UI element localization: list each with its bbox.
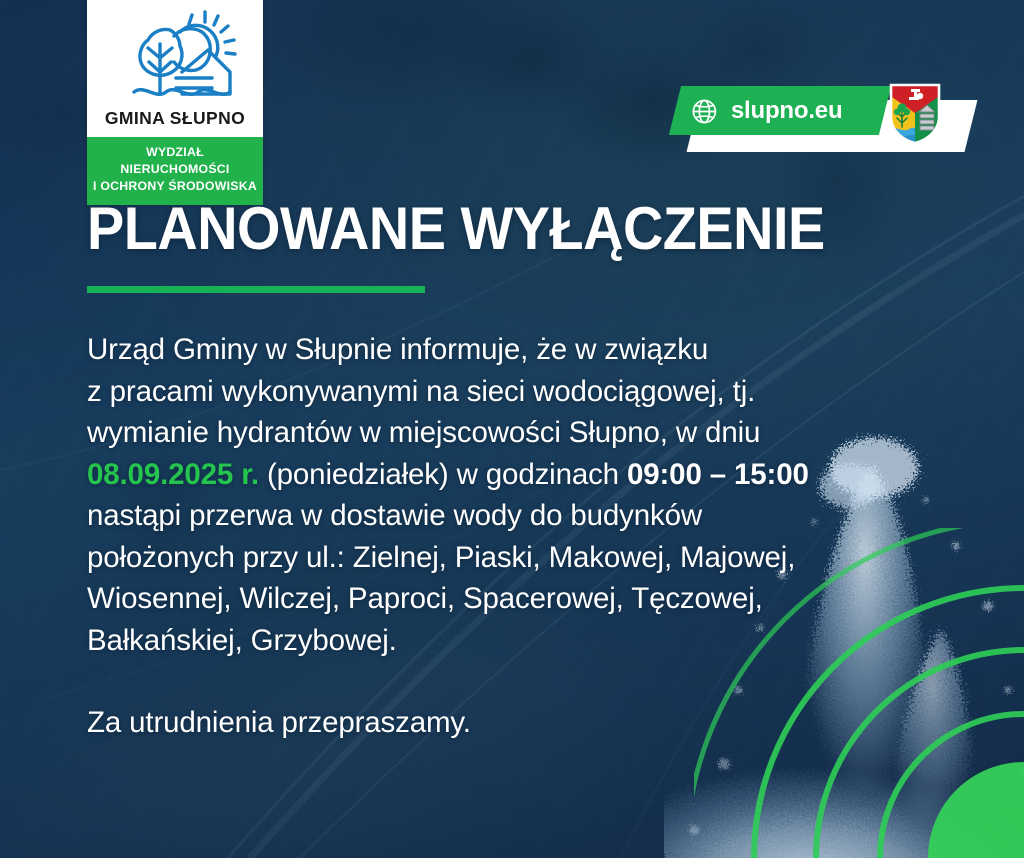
trees-sun-house-water-icon: [108, 10, 242, 106]
outage-weekday-text: (poniedziałek) w godzinach: [259, 458, 627, 491]
body-line-3: wymianie hydrantów w miejscowości Słupno…: [87, 412, 847, 454]
badge-green-panel[interactable]: slupno.eu: [669, 86, 891, 135]
title-underline-rule: [87, 286, 425, 293]
gmina-slupno-logo-card: GMINA SŁUPNO WYDZIAŁ NIERUCHOMOŚCI I OCH…: [87, 0, 263, 205]
paragraph-gap: [87, 661, 847, 702]
body-line-6: położonych przy ul.: Zielnej, Piaski, Ma…: [87, 537, 847, 579]
website-url-label: slupno.eu: [731, 97, 843, 125]
body-line-7: Wiosennej, Wilczej, Paproci, Spacerowej,…: [87, 578, 847, 620]
outage-hours: 09:00 – 15:00: [627, 458, 809, 491]
page-title: PLANOWANE WYŁĄCZENIE: [87, 198, 847, 260]
body-line-4: 08.09.2025 r. (poniedziałek) w godzinach…: [87, 454, 847, 496]
announcement-poster: GMINA SŁUPNO WYDZIAŁ NIERUCHOMOŚCI I OCH…: [0, 0, 1024, 858]
announcement-body: Urząd Gminy w Słupnie informuje, że w zw…: [87, 329, 847, 744]
logo-department-band: WYDZIAŁ NIERUCHOMOŚCI I OCHRONY ŚRODOWIS…: [87, 137, 263, 205]
logo-mark: [87, 0, 263, 108]
logo-department-line-1: WYDZIAŁ NIERUCHOMOŚCI: [93, 144, 257, 179]
body-line-8: Bałkańskiej, Grzybowej.: [87, 620, 847, 662]
body-line-5: nastąpi przerwa w dostawie wody do budyn…: [87, 495, 847, 537]
gmina-slupno-coat-of-arms: [889, 83, 941, 145]
body-line-2: z pracami wykonywanymi na sieci wodociąg…: [87, 371, 847, 413]
outage-date: 08.09.2025 r.: [87, 458, 259, 491]
body-line-1: Urząd Gminy w Słupnie informuje, że w zw…: [87, 329, 847, 371]
poster-content: PLANOWANE WYŁĄCZENIE Urząd Gminy w Słupn…: [87, 198, 904, 744]
apology-line: Za utrudnienia przepraszamy.: [87, 702, 847, 744]
globe-icon: [691, 97, 718, 124]
logo-department-line-2: I OCHRONY ŚRODOWISKA: [93, 178, 257, 195]
logo-municipality-name: GMINA SŁUPNO: [87, 108, 263, 137]
website-badge[interactable]: slupno.eu: [675, 84, 975, 160]
